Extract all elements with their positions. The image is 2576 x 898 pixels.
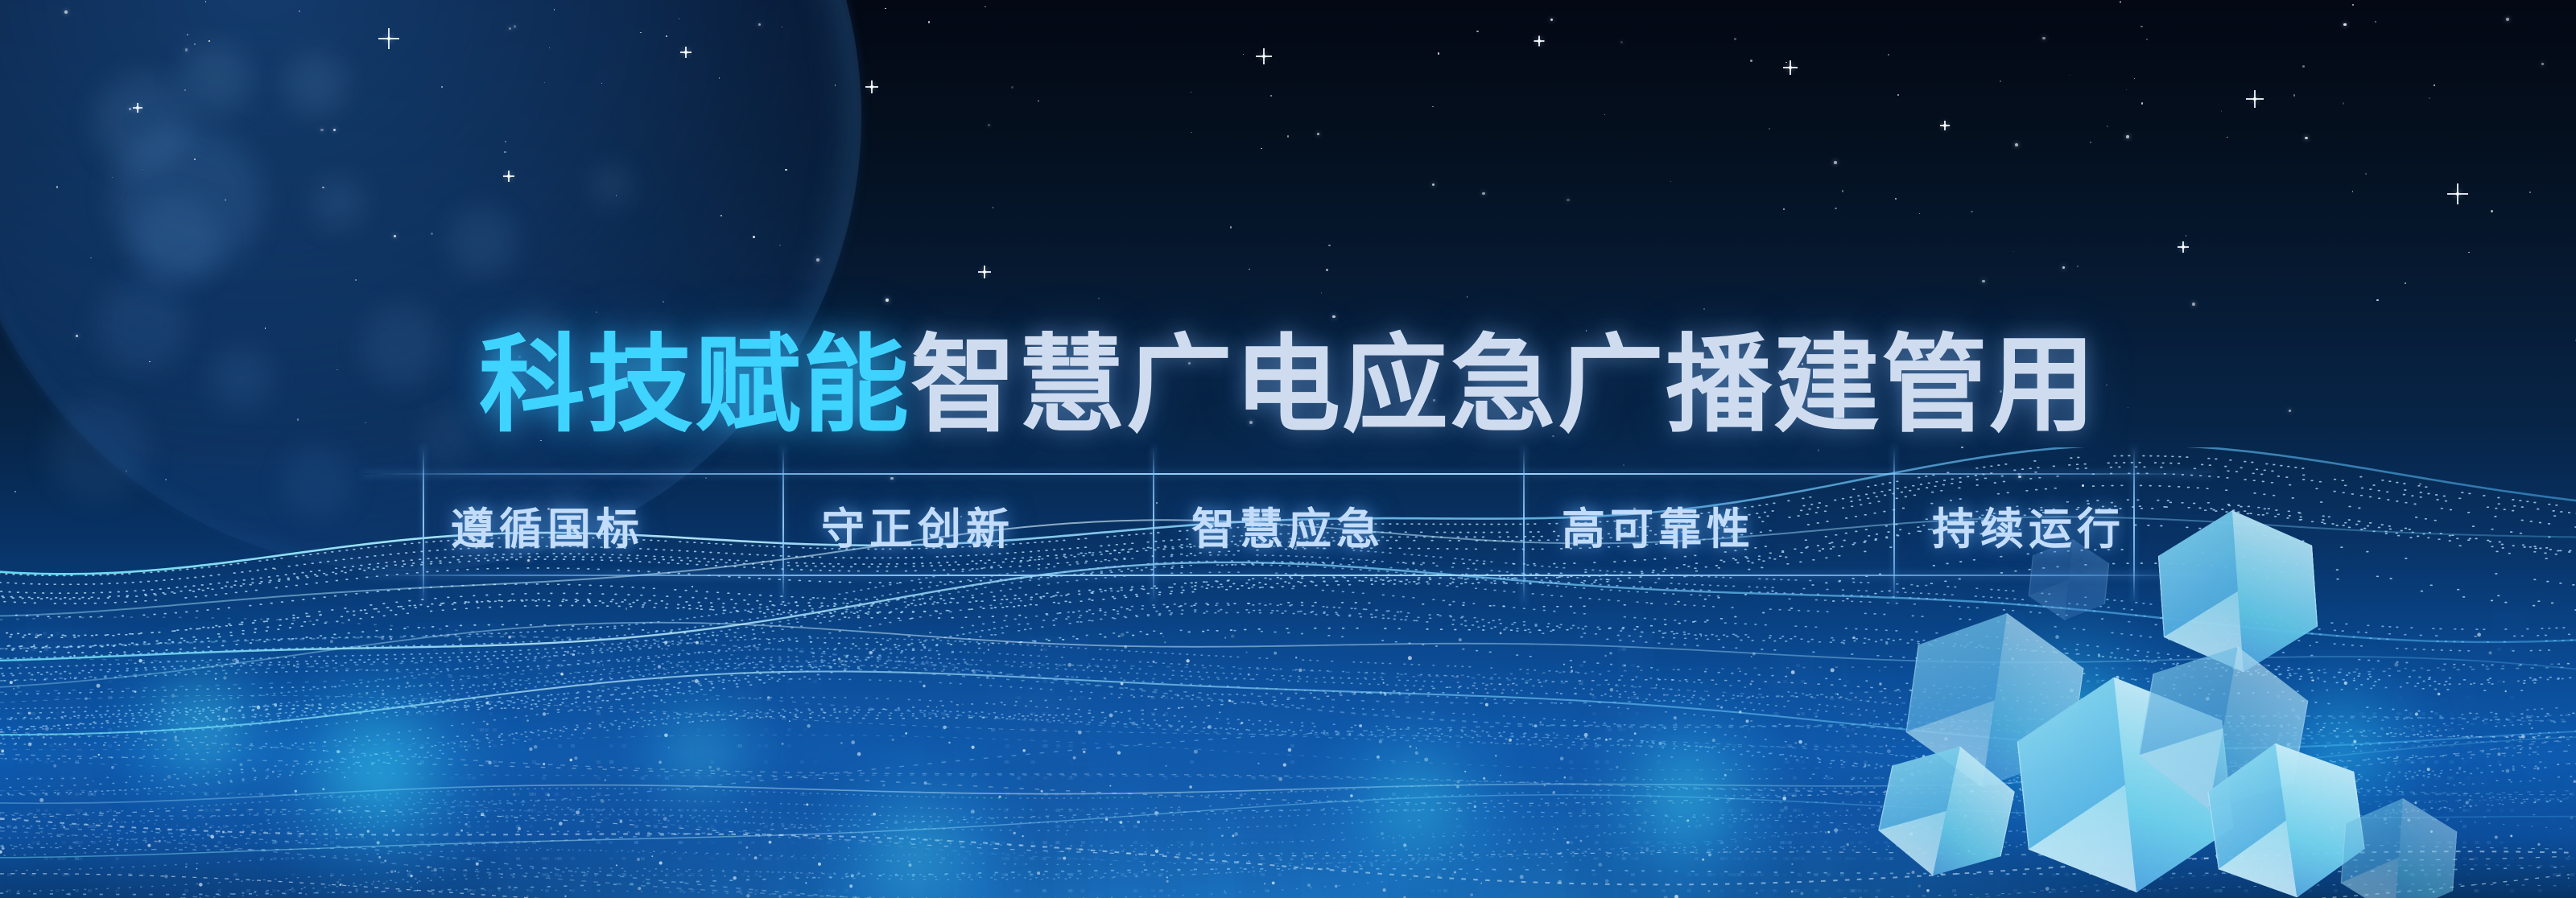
feature-tag-2[interactable]: 智慧应急	[1103, 493, 1473, 557]
feature-tag-3[interactable]: 高可靠性	[1473, 493, 1843, 557]
title-plain-segment: 智慧广电应急广播建管用	[910, 326, 2097, 444]
feature-tag-list: 遵循国标 守正创新 智慧应急 高可靠性 持续运行	[362, 473, 2214, 576]
banner-content: 科技赋能智慧广电应急广播建管用 遵循国标 守正创新 智慧应急 高可靠性 持续运行	[0, 0, 2576, 898]
page-title: 科技赋能智慧广电应急广播建管用	[0, 327, 2576, 443]
feature-tag-0[interactable]: 遵循国标	[362, 493, 733, 557]
title-accent-segment: 科技赋能	[479, 326, 910, 444]
banner-root: 科技赋能智慧广电应急广播建管用 遵循国标 守正创新 智慧应急 高可靠性 持续运行	[0, 0, 2576, 898]
feature-tag-1[interactable]: 守正创新	[733, 493, 1103, 557]
feature-band: 遵循国标 守正创新 智慧应急 高可靠性 持续运行	[362, 473, 2214, 576]
feature-tag-4[interactable]: 持续运行	[1843, 493, 2214, 557]
